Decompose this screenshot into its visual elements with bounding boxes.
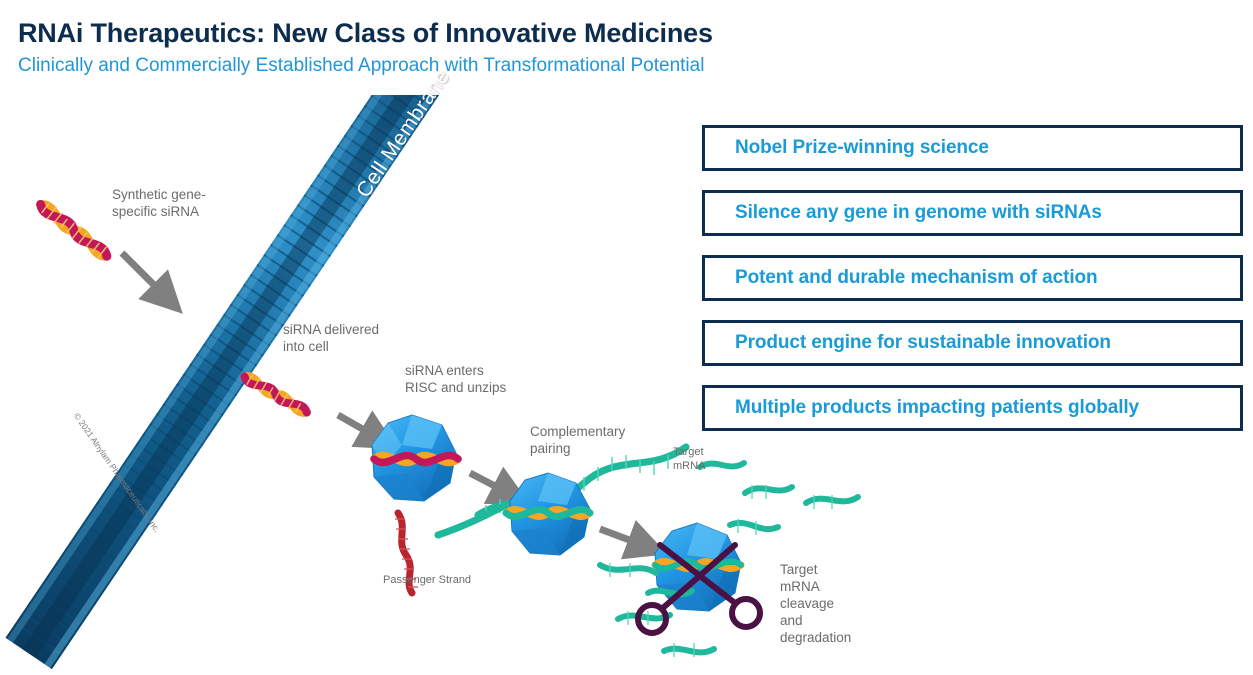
target-mrna-label: Target mRNA bbox=[673, 446, 705, 474]
mrna-cleavage-label: Target mRNA cleavage and degradation bbox=[780, 562, 851, 646]
risc-complex-2 bbox=[506, 473, 590, 555]
risc-complex-1 bbox=[372, 415, 458, 501]
slide-header: RNAi Therapeutics: New Class of Innovati… bbox=[18, 18, 713, 77]
synthetic-sirna-label: Synthetic gene- specific siRNA bbox=[112, 187, 206, 221]
rnai-mechanism-diagram: Cell Membrane © 2021 Alnylam Pharmaceuti… bbox=[0, 95, 700, 675]
flow-arrow-1 bbox=[122, 253, 168, 299]
page-subtitle: Clinically and Commercially Established … bbox=[18, 55, 713, 77]
sirna-duplex-outside bbox=[36, 198, 112, 262]
passenger-strand-label: Passenger Strand bbox=[383, 574, 471, 588]
flow-arrow-2 bbox=[338, 415, 380, 439]
mrna-tail-left bbox=[438, 505, 506, 535]
page-title: RNAi Therapeutics: New Class of Innovati… bbox=[18, 18, 713, 49]
sirna-duplex-inside bbox=[241, 370, 310, 418]
flow-arrow-4 bbox=[600, 529, 648, 547]
flow-arrow-3 bbox=[470, 473, 512, 495]
slide-root: RNAi Therapeutics: New Class of Innovati… bbox=[0, 0, 1253, 675]
sirna-risc-label: siRNA enters RISC and unzips bbox=[405, 363, 506, 397]
sirna-delivered-label: siRNA delivered into cell bbox=[283, 322, 379, 356]
membrane-fade-overlay bbox=[190, 95, 470, 295]
complementary-pairing-label: Complementary pairing bbox=[530, 424, 625, 458]
